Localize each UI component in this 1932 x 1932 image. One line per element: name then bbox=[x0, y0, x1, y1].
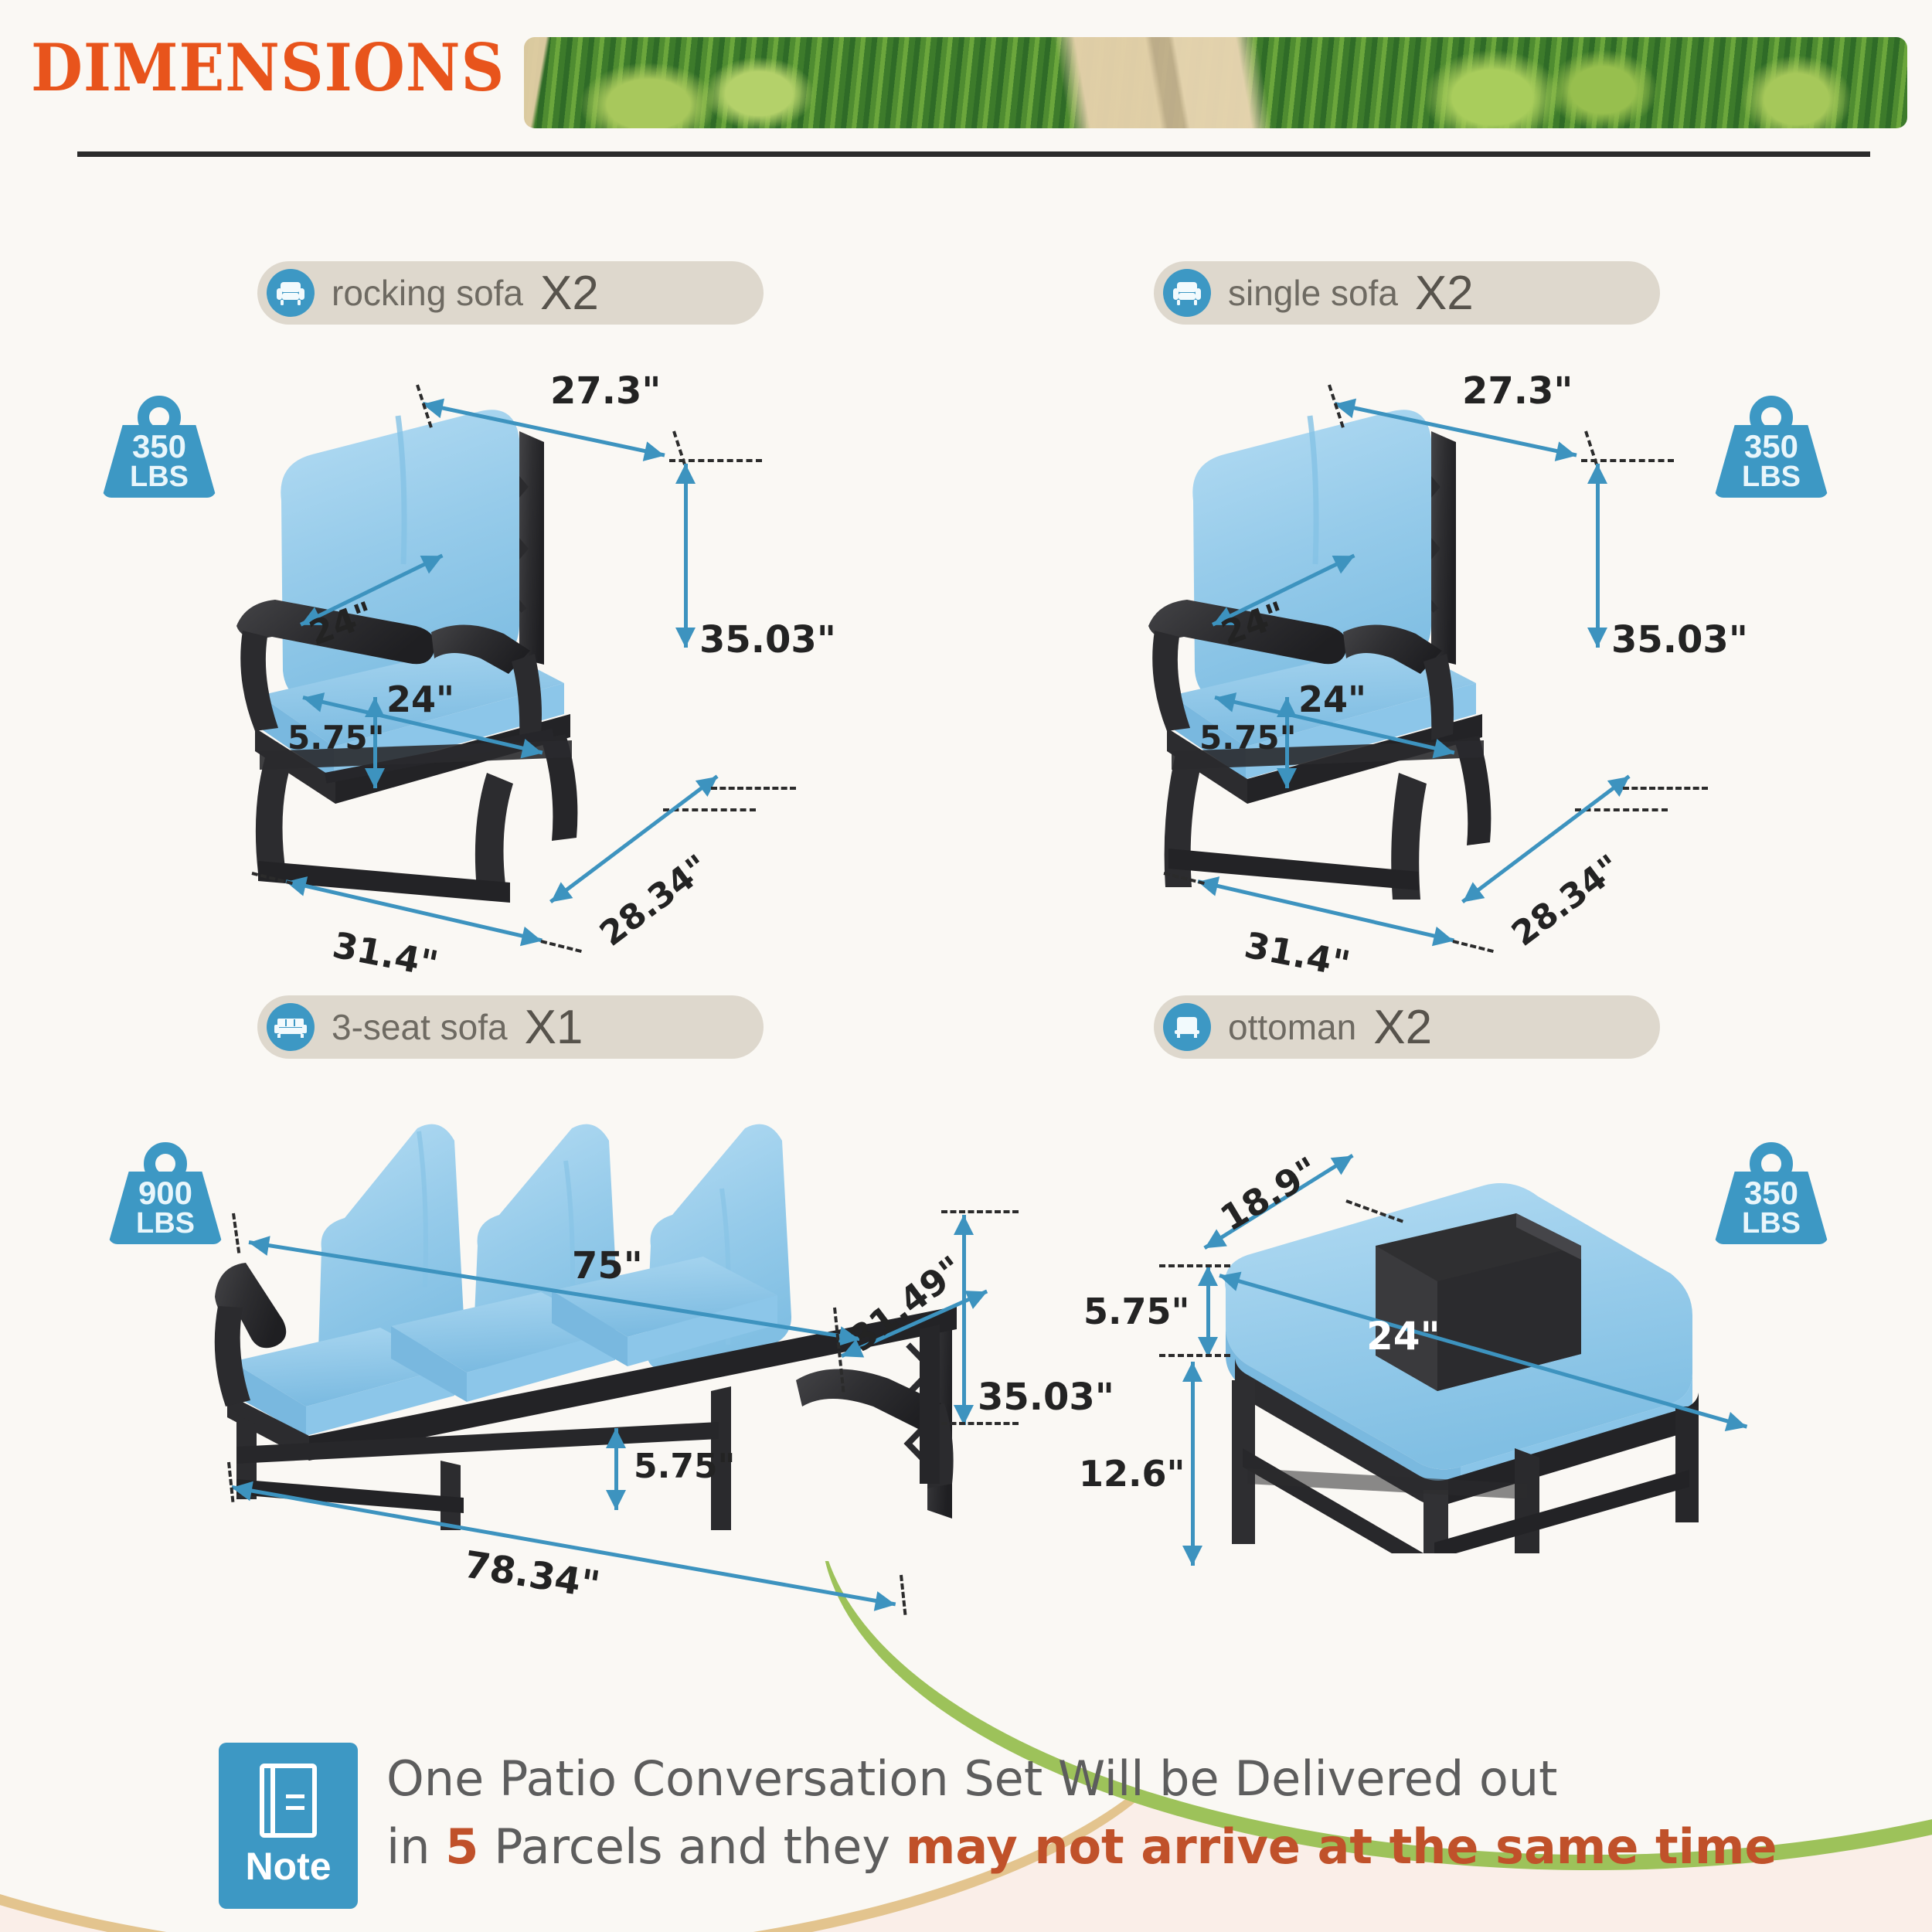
armchair-icon bbox=[267, 269, 315, 317]
dim-value: 35.03" bbox=[978, 1376, 1114, 1419]
section-label-rocking-sofa: rocking sofa X2 bbox=[257, 261, 764, 325]
weight-unit: LBS bbox=[130, 462, 189, 492]
tropical-foliage-banner-image bbox=[524, 37, 1907, 128]
dim-value: 35.03" bbox=[1611, 618, 1748, 662]
section-label-single-sofa: single sofa X2 bbox=[1154, 261, 1660, 325]
dim-value: 24" bbox=[1366, 1314, 1440, 1359]
section-label-ottoman: ottoman X2 bbox=[1154, 995, 1660, 1059]
ottoman-icon bbox=[1163, 1003, 1211, 1051]
notebook-icon bbox=[260, 1764, 317, 1838]
weight-badge-body: 900 LBS bbox=[108, 1172, 223, 1244]
weight-badge-body: 350 LBS bbox=[1714, 425, 1828, 498]
parcel-count: 5 bbox=[445, 1818, 478, 1875]
note-badge: Note bbox=[219, 1743, 358, 1909]
note-line1-text: One Patio Conversation Set Will be Deliv… bbox=[386, 1750, 1557, 1807]
section-label-text: single sofa bbox=[1228, 272, 1398, 314]
section-quantity: X2 bbox=[1415, 266, 1474, 321]
section-quantity: X2 bbox=[1373, 1000, 1432, 1055]
note-line-1: One Patio Conversation Set Will be Deliv… bbox=[386, 1745, 1855, 1813]
dim-value: 75" bbox=[572, 1244, 643, 1287]
dim-value: 35.03" bbox=[699, 618, 836, 662]
dim-value: 24" bbox=[1298, 679, 1366, 720]
weight-badge-body: 350 LBS bbox=[102, 425, 216, 498]
dim-value: 27.3" bbox=[1462, 369, 1573, 413]
dim-value: 5.75" bbox=[287, 719, 385, 757]
weight-value: 900 bbox=[138, 1178, 192, 1209]
dim-value: 12.6" bbox=[1079, 1453, 1185, 1495]
weight-badge-3-seat-sofa: 900 LBS bbox=[108, 1142, 223, 1244]
section-quantity: X1 bbox=[525, 1000, 583, 1055]
note-text: One Patio Conversation Set Will be Deliv… bbox=[386, 1745, 1855, 1881]
section-quantity: X2 bbox=[540, 266, 599, 321]
dim-value: 5.75" bbox=[1199, 719, 1297, 757]
page-title: DIMENSIONS bbox=[31, 29, 505, 106]
note-badge-label: Note bbox=[245, 1844, 331, 1889]
note-warning-text: may not arrive at the same time bbox=[906, 1818, 1777, 1875]
note-line2-middle: Parcels and they bbox=[478, 1818, 905, 1875]
dim-value: 24" bbox=[386, 679, 454, 720]
dim-value: 5.75" bbox=[1083, 1291, 1189, 1332]
header-divider bbox=[77, 151, 1870, 157]
weight-unit: LBS bbox=[136, 1209, 195, 1238]
section-label-text: rocking sofa bbox=[332, 272, 523, 314]
weight-badge-single-sofa: 350 LBS bbox=[1714, 396, 1828, 498]
note-line2-prefix: in bbox=[386, 1818, 445, 1875]
section-label-text: ottoman bbox=[1228, 1006, 1356, 1048]
section-label-text: 3-seat sofa bbox=[332, 1006, 508, 1048]
weight-value: 350 bbox=[132, 431, 186, 462]
section-label-3-seat-sofa: 3-seat sofa X1 bbox=[257, 995, 764, 1059]
note-line-2: in 5 Parcels and they may not arrive at … bbox=[386, 1813, 1855, 1881]
sofa-icon bbox=[267, 1003, 315, 1051]
dim-value: 5.75" bbox=[634, 1447, 735, 1486]
header: DIMENSIONS bbox=[0, 0, 1932, 166]
dim-value: 27.3" bbox=[550, 369, 661, 413]
weight-value: 350 bbox=[1744, 431, 1798, 462]
weight-unit: LBS bbox=[1742, 462, 1801, 492]
armchair-icon bbox=[1163, 269, 1211, 317]
weight-badge-rocking-sofa: 350 LBS bbox=[102, 396, 216, 498]
